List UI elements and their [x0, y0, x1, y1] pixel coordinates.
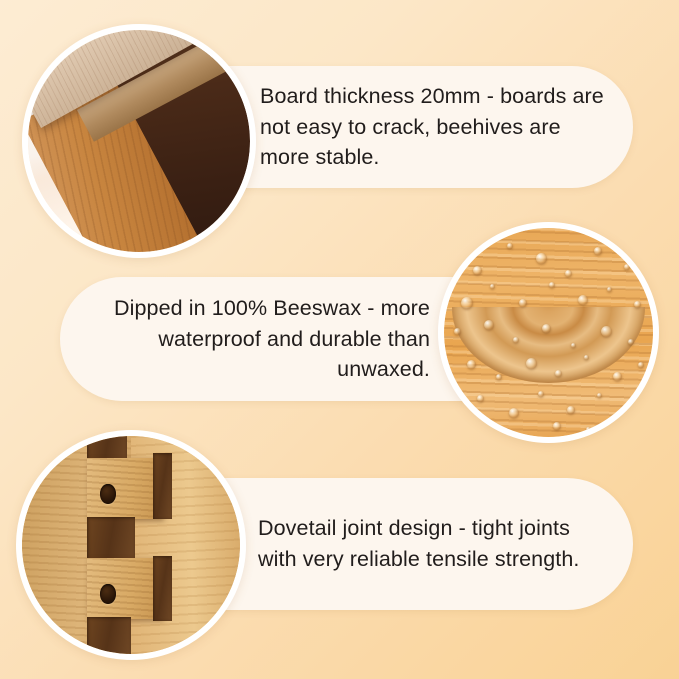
- board-corner-photo-inner: [28, 30, 250, 252]
- dovetail-joint-photo-inner: [22, 436, 240, 654]
- water-droplet: [586, 427, 591, 432]
- water-droplet: [526, 358, 537, 369]
- dovetail-gap: [153, 453, 173, 518]
- water-droplet: [626, 410, 633, 417]
- water-droplet: [549, 282, 555, 288]
- water-droplet: [597, 393, 602, 398]
- water-droplet: [461, 297, 473, 309]
- water-droplet: [578, 295, 588, 305]
- water-droplet: [509, 408, 519, 418]
- dovetail-joint-photo: [16, 430, 246, 660]
- water-droplet: [555, 370, 562, 377]
- water-droplet: [624, 264, 630, 270]
- water-droplet: [607, 287, 612, 292]
- water-droplet: [565, 270, 572, 277]
- water-droplet: [484, 320, 494, 330]
- water-droplet: [507, 243, 513, 249]
- screw-hole: [100, 584, 115, 604]
- water-droplets-photo-inner: [444, 228, 653, 437]
- screw-hole: [100, 484, 115, 504]
- feature-text-board-thickness: Board thickness 20mm - boards are not ea…: [260, 81, 607, 173]
- dovetail-gap: [87, 617, 131, 654]
- product-feature-infographic: Board thickness 20mm - boards are not ea…: [0, 0, 679, 679]
- water-droplet: [567, 406, 575, 414]
- dovetail-gap: [87, 517, 135, 561]
- dovetail-gap: [153, 556, 173, 621]
- water-droplets-photo: [438, 222, 659, 443]
- water-droplet: [513, 337, 519, 343]
- water-droplet: [467, 360, 476, 369]
- water-droplet: [536, 253, 547, 264]
- board-corner-photo: [22, 24, 256, 258]
- water-droplet: [473, 266, 482, 275]
- feature-text-beeswax: Dipped in 100% Beeswax - more waterproof…: [72, 293, 430, 385]
- dovetail-finger: [87, 458, 161, 519]
- water-droplet: [628, 339, 634, 345]
- feature-text-dovetail: Dovetail joint design - tight joints wit…: [258, 513, 609, 574]
- dovetail-finger: [87, 558, 161, 619]
- water-droplet: [601, 326, 612, 337]
